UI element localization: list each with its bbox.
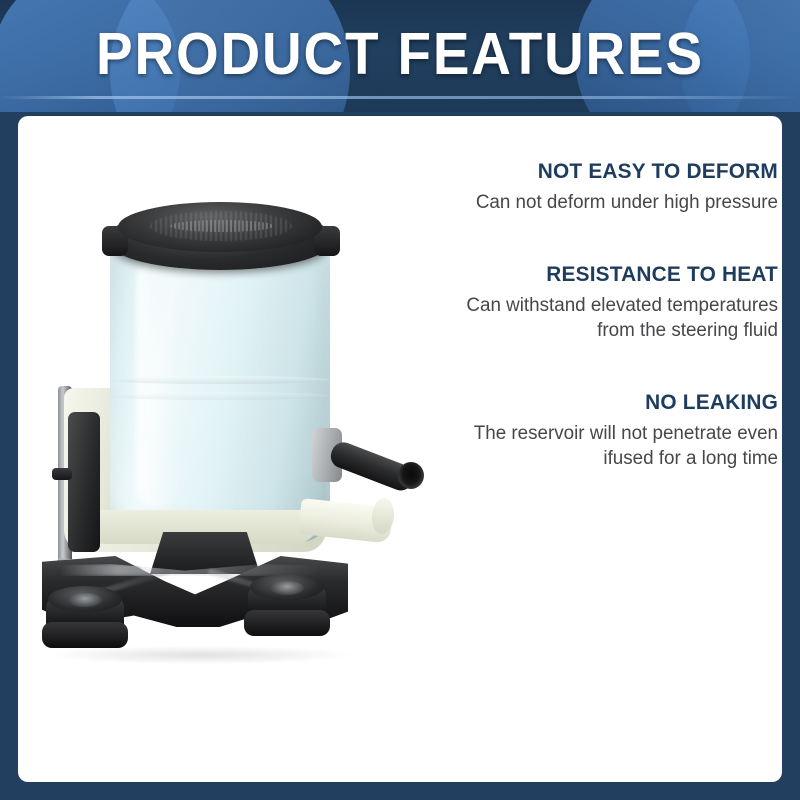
grommet-bolt-hole bbox=[270, 581, 304, 595]
mounting-grommet-left bbox=[46, 586, 124, 648]
feature-description: Can withstand elevated temperatures from… bbox=[364, 293, 778, 343]
feature-description-line: ifused for a long time bbox=[364, 446, 778, 471]
feature-description: Can not deform under high pressure bbox=[364, 190, 778, 215]
feature-description-line: Can not deform under high pressure bbox=[364, 190, 778, 215]
feature-description-line: The reservoir will not penetrate even bbox=[364, 421, 778, 446]
product-image bbox=[20, 180, 370, 680]
grommet-bolt-hole bbox=[68, 593, 102, 607]
feature-description-line: from the steering fluid bbox=[364, 318, 778, 343]
feature-list: NOT EASY TO DEFORM Can not deform under … bbox=[360, 158, 778, 471]
tank-ring-upper bbox=[110, 376, 330, 384]
cap-embossed-text-secondary bbox=[170, 220, 274, 232]
feature-description-line: Can withstand elevated temperatures bbox=[364, 293, 778, 318]
page-title: PRODUCT FEATURES bbox=[28, 20, 772, 88]
feature-title: RESISTANCE TO HEAT bbox=[373, 261, 778, 288]
tank-ring-lower bbox=[110, 392, 330, 400]
rubber-pad bbox=[68, 412, 100, 552]
infographic-canvas: PRODUCT FEATURES bbox=[0, 0, 800, 800]
header-band: PRODUCT FEATURES bbox=[0, 0, 800, 112]
grommet-collar bbox=[244, 610, 330, 636]
feature-title: NO LEAKING bbox=[373, 389, 778, 416]
rubber-clip bbox=[52, 468, 72, 480]
mounting-grommet-right bbox=[248, 574, 326, 636]
feature-item: RESISTANCE TO HEAT Can withstand elevate… bbox=[360, 261, 778, 343]
grommet-collar bbox=[42, 622, 128, 648]
product-shadow bbox=[50, 646, 350, 664]
feature-description: The reservoir will not penetrate even if… bbox=[364, 421, 778, 471]
feature-item: NO LEAKING The reservoir will not penetr… bbox=[360, 389, 778, 471]
feature-title: NOT EASY TO DEFORM bbox=[373, 158, 778, 185]
header-divider-line bbox=[0, 96, 800, 99]
feature-item: NOT EASY TO DEFORM Can not deform under … bbox=[360, 158, 778, 215]
